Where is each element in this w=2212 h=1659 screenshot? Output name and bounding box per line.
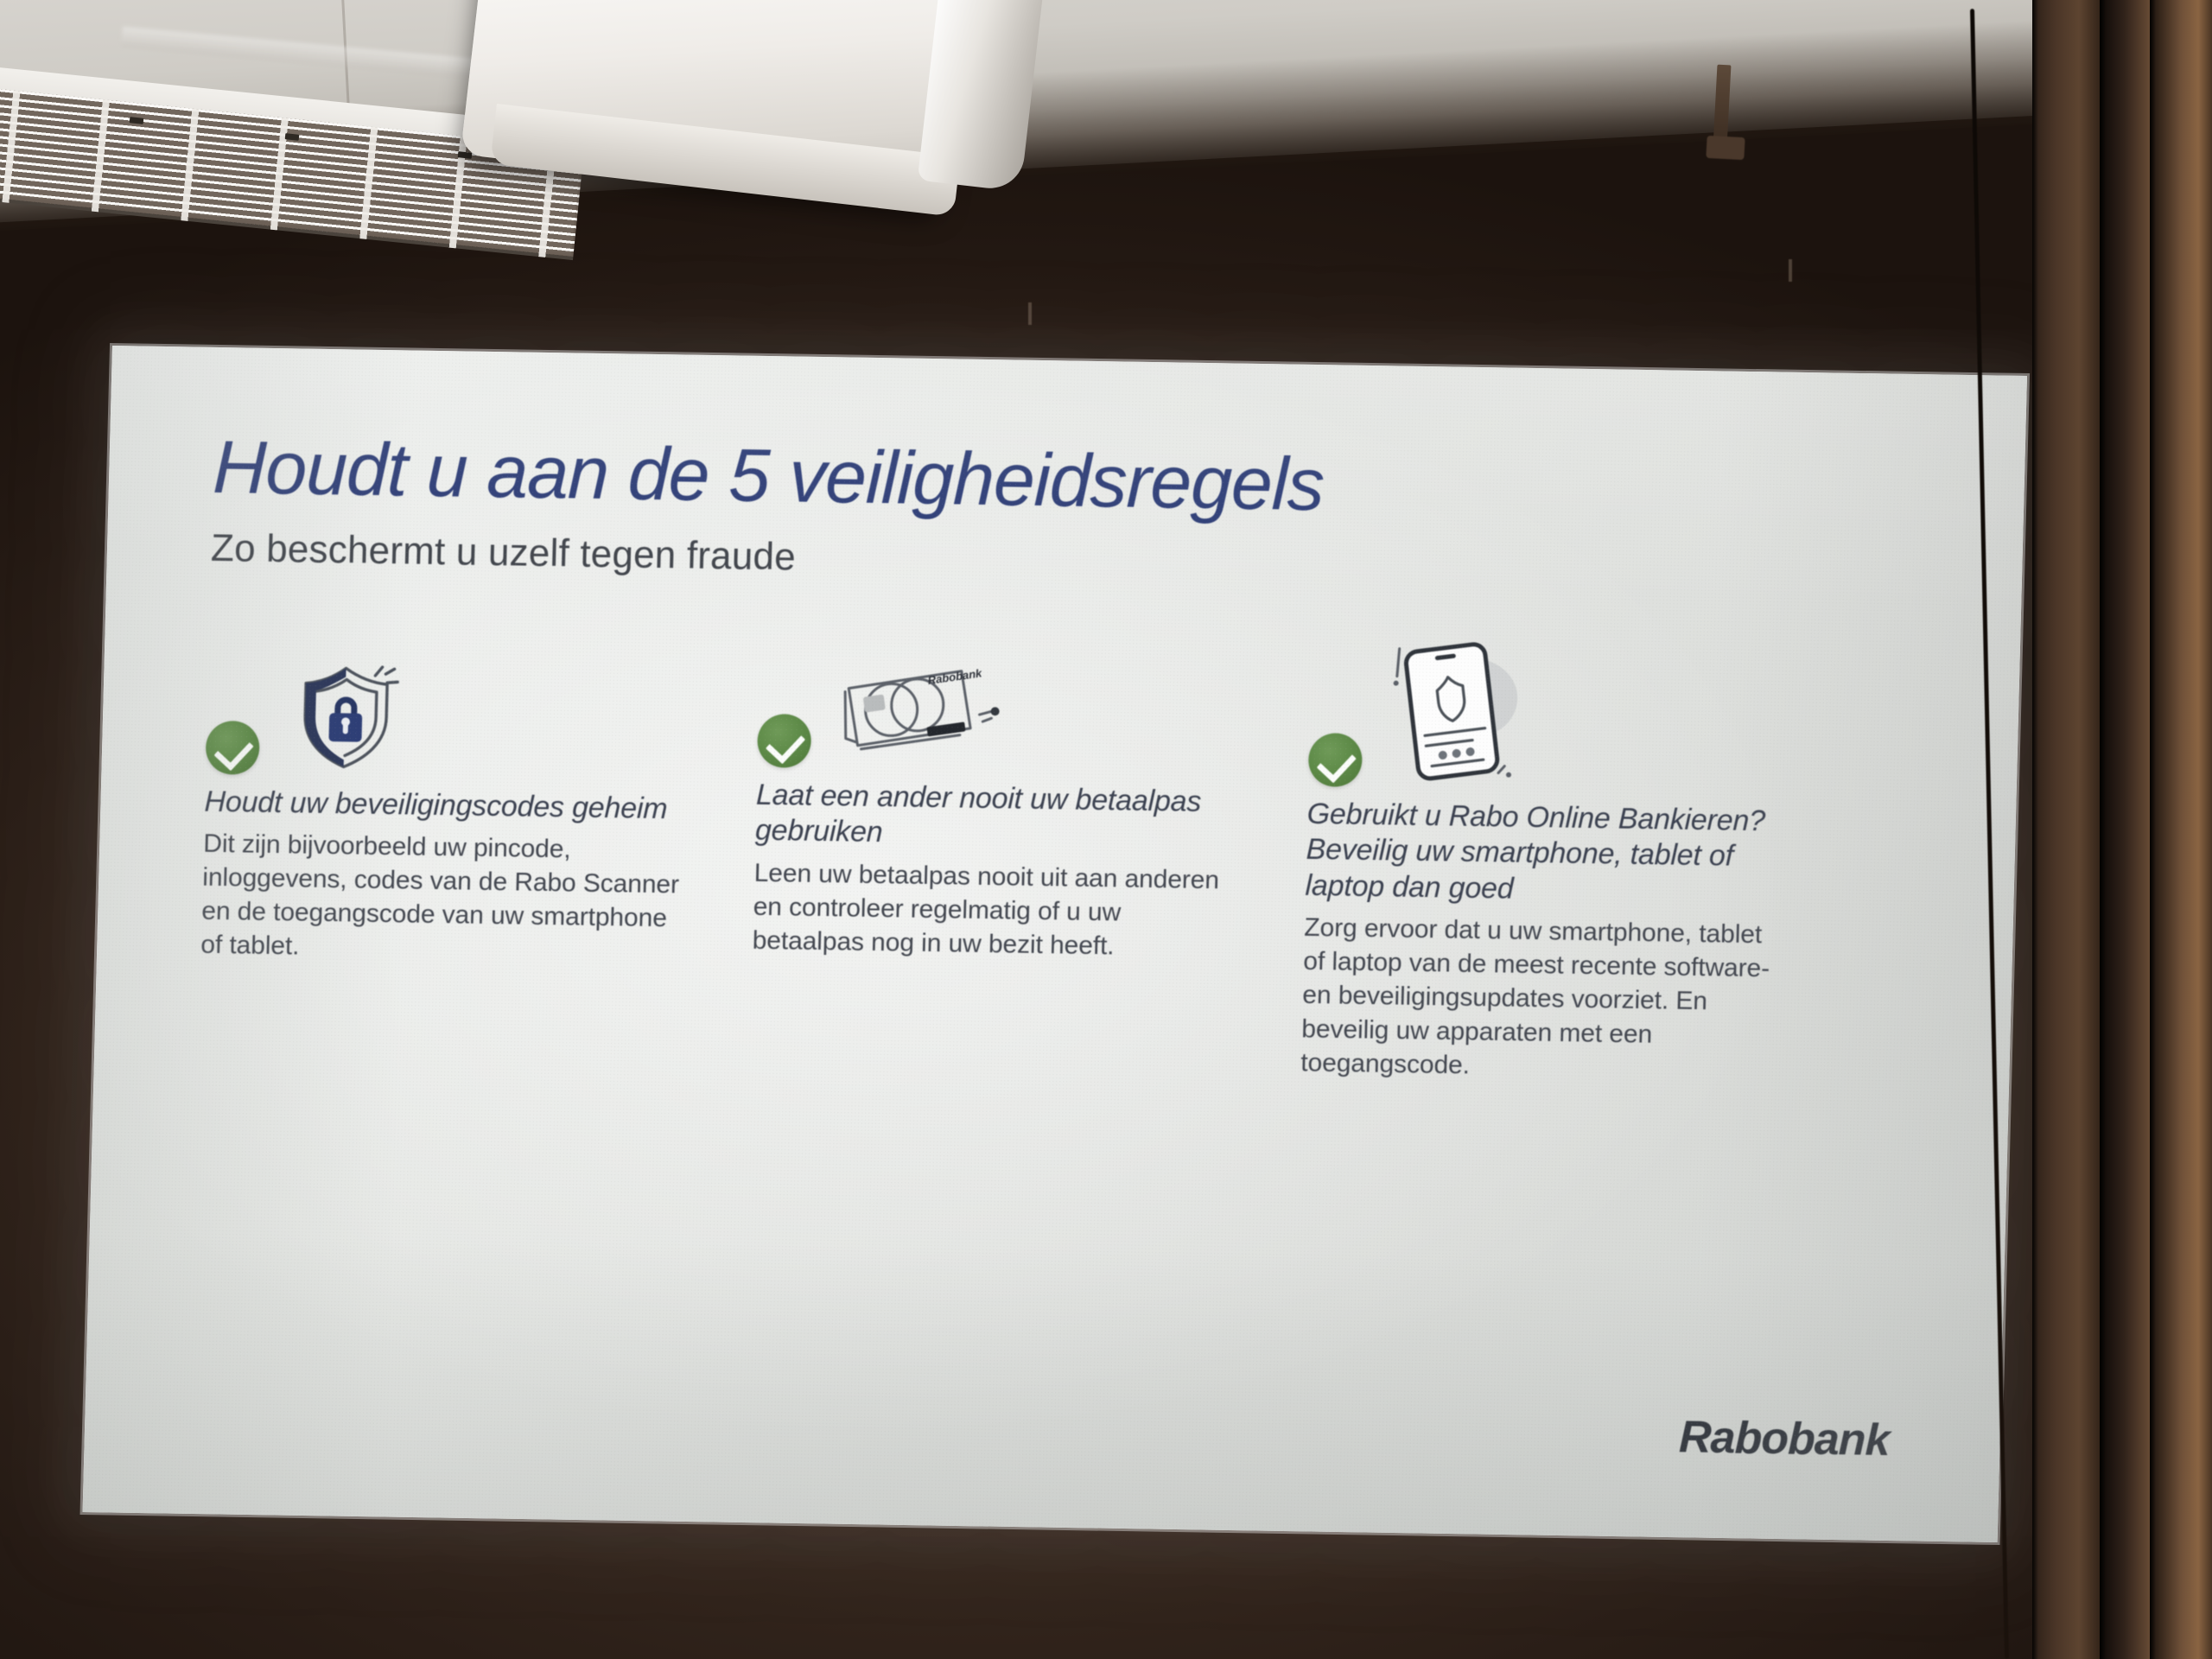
curtain-fold [2032,0,2038,1659]
column-3-heading: Gebruikt u Rabo Online Bankieren? Beveil… [1305,797,1791,912]
column-1-body: Dit zijn bijvoorbeeld uw pincode, inlogg… [200,827,688,969]
column-3-icon-row [1308,641,1796,794]
room-photo-scene: Houdt u aan de 5 veiligheidsregels Zo be… [0,0,2212,1659]
check-circle-icon [1308,733,1363,787]
safety-rule-column-3: Gebruikt u Rabo Online Bankieren? Beveil… [1300,641,1796,1087]
check-circle-icon [757,714,812,768]
column-2-icon-row: Rabobank [757,665,1243,775]
column-1-heading: Houdt uw beveiligingscodes geheim [204,785,689,828]
curtain-fold [2150,0,2156,1659]
column-2-body: Leen uw betaalpas nooit uit aan anderen … [752,856,1238,965]
shield-lock-icon [277,660,410,777]
column-1-icon-row [205,672,691,782]
slide-subtitle: Zo beschermt u uzelf tegen fraude [210,527,1918,597]
rabobank-logo: Rabobank [1678,1411,1890,1466]
card-brand-text: Rabobank [927,666,983,687]
smartphone-security-icon [1381,634,1541,790]
projection-screen: Houdt u aan de 5 veiligheidsregels Zo be… [83,346,2027,1542]
curtain-panel [2150,0,2212,1659]
safety-rule-column-2: Rabobank Laat een ander nooit uw betaalp… [749,632,1244,1078]
curtain-fold [2100,0,2106,1659]
check-circle-icon [205,721,260,775]
slide-title: Houdt u aan de 5 veiligheidsregels [212,430,1921,533]
column-3-body: Zorg ervoor dat u uw smartphone, tablet … [1300,911,1789,1087]
slide-content: Houdt u aan de 5 veiligheidsregels Zo be… [83,346,2027,1542]
column-2-heading: Laat een ander nooit uw betaalpas gebrui… [754,778,1240,857]
projection-area: Houdt u aan de 5 veiligheidsregels Zo be… [0,0,2212,1659]
safety-rules-columns: Houdt uw beveiligingscodes geheim Dit zi… [198,624,1916,1090]
safety-rule-column-1: Houdt uw beveiligingscodes geheim Dit zi… [198,624,693,1070]
bank-card-icon: Rabobank [829,658,1005,771]
